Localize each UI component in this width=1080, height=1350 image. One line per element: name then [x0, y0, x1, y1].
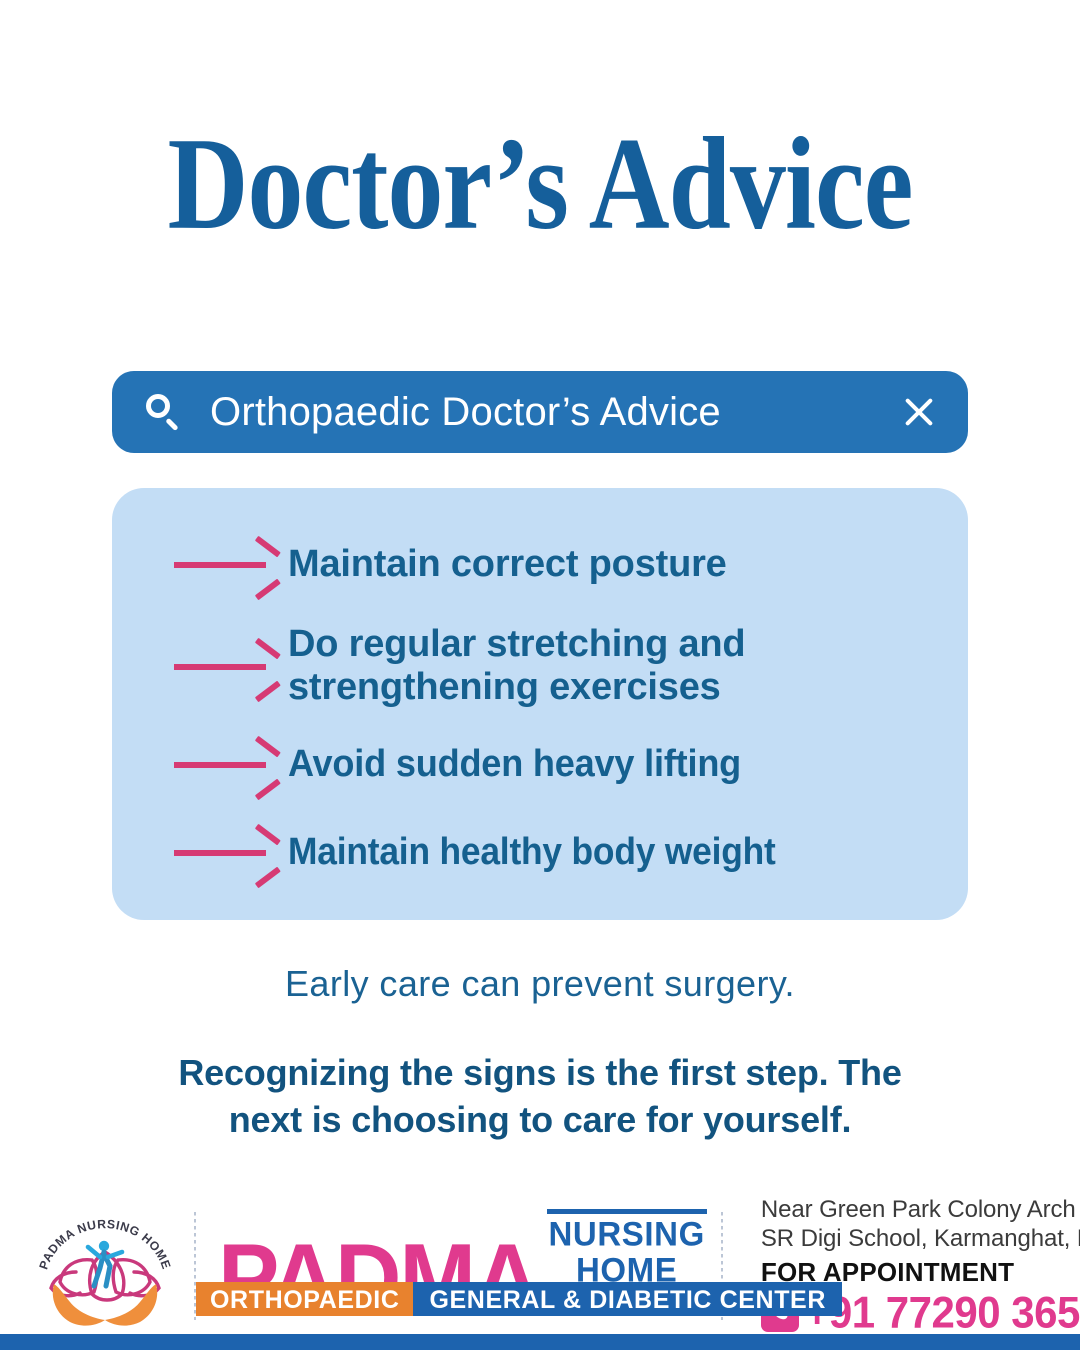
advice-item-label-line1: Do regular stretching and: [288, 623, 745, 665]
brand-nursing-label: NURSING: [547, 1214, 707, 1251]
advice-item-label-line2: strengthening exercises: [288, 666, 721, 708]
list-item: Maintain correct posture: [174, 532, 928, 596]
arrow-right-icon: [174, 835, 282, 869]
clinic-emblem: PADMA NURSING HOME: [30, 1202, 180, 1330]
tagline-bold: Recognizing the signs is the first step.…: [140, 1050, 940, 1144]
arrow-shaft: [174, 664, 266, 670]
advice-item-label: Do regular stretching and strengthening …: [288, 623, 745, 708]
search-icon-ring: [146, 394, 170, 418]
advice-item-label: Avoid sudden heavy lifting: [288, 743, 741, 786]
lotus-icon: PADMA NURSING HOME: [30, 1202, 180, 1330]
arrow-right-icon: [174, 547, 282, 581]
arrow-head-upper: [255, 536, 281, 558]
brand-subname-block: NURSING HOME: [547, 1209, 707, 1290]
tagline-light: Early care can prevent surgery.: [0, 963, 1080, 1005]
close-icon[interactable]: [902, 395, 936, 429]
address-line-1: Near Green Park Colony Arch Beside: [761, 1195, 1080, 1224]
arrow-head-upper: [255, 824, 281, 846]
advice-list: Maintain correct posture Do regular stre…: [174, 532, 928, 884]
tagline-bold-line2: choosing to care for yourself.: [351, 1099, 851, 1140]
arrow-shaft: [174, 762, 266, 768]
search-input[interactable]: Orthopaedic Doctor’s Advice: [210, 390, 902, 435]
band-orthopaedic: ORTHOPAEDIC: [196, 1282, 413, 1316]
advice-panel: Maintain correct posture Do regular stre…: [112, 488, 968, 920]
search-bar[interactable]: Orthopaedic Doctor’s Advice: [112, 371, 968, 453]
list-item: Maintain healthy body weight: [174, 820, 928, 884]
advice-item-label: Maintain correct posture: [288, 543, 727, 586]
arrow-shaft: [174, 850, 266, 856]
band-general-diabetic: GENERAL & DIABETIC CENTER: [413, 1282, 842, 1316]
list-item: Avoid sudden heavy lifting: [174, 732, 928, 796]
search-icon-handle: [165, 418, 178, 431]
poster-canvas: Doctor’s Advice Orthopaedic Doctor’s Adv…: [0, 0, 1080, 1350]
page-title: Doctor’s Advice: [0, 118, 1080, 250]
list-item: Do regular stretching and strengthening …: [174, 614, 928, 718]
bottom-accent-bar: [0, 1334, 1080, 1350]
advice-item-label: Maintain healthy body weight: [288, 831, 776, 874]
phone-number[interactable]: +91 77290 36574: [805, 1288, 1080, 1338]
arrow-head-lower: [255, 681, 281, 703]
brand-service-bands: ORTHOPAEDIC GENERAL & DIABETIC CENTER: [196, 1282, 842, 1316]
arrow-right-icon: [174, 649, 282, 683]
search-icon[interactable]: [144, 393, 182, 431]
arrow-head-lower: [255, 579, 281, 601]
arrow-head-lower: [255, 867, 281, 889]
address-line-2: SR Digi School, Karmanghat, Hyd. (T.S.): [761, 1224, 1080, 1253]
arrow-head-lower: [255, 779, 281, 801]
arrow-right-icon: [174, 747, 282, 781]
arrow-head-upper: [255, 638, 281, 660]
arrow-shaft: [174, 562, 266, 568]
arrow-head-upper: [255, 736, 281, 758]
